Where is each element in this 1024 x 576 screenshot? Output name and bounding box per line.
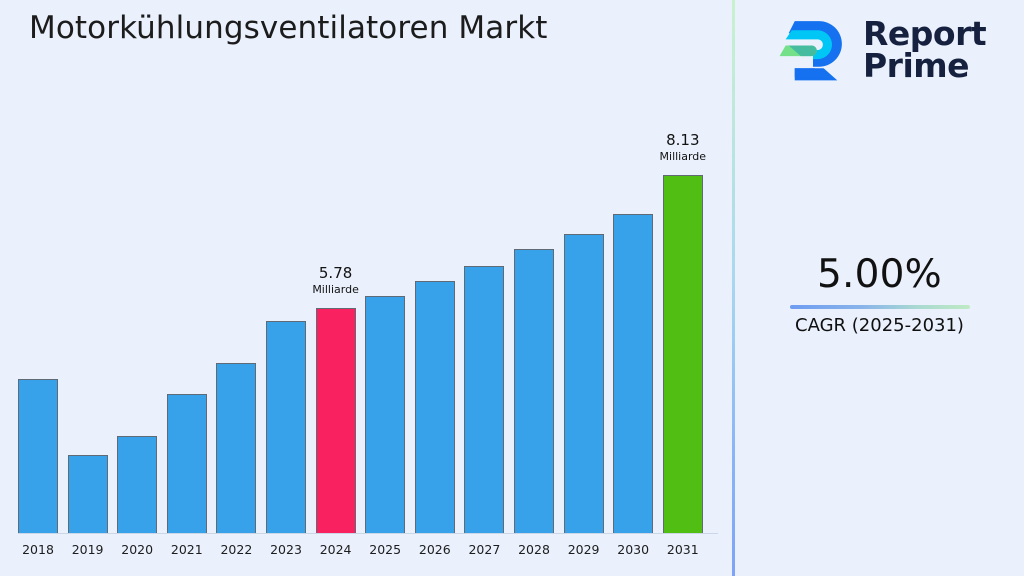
cagr-label: CAGR (2025-2031) <box>735 315 1024 336</box>
chart-infographic: Motorkühlungsventilatoren Markt 20182019… <box>0 0 1024 576</box>
x-axis-line <box>18 533 718 534</box>
bar-2018 <box>18 379 58 533</box>
bar-2031 <box>663 175 703 533</box>
bar-2025 <box>365 296 405 533</box>
bar-2019 <box>68 455 108 533</box>
bar-2022 <box>216 363 256 533</box>
bar-value-number-2031: 8.13 <box>638 133 728 149</box>
report-prime-r-logo-icon <box>775 12 851 88</box>
bar-value-unit-2031: Milliarde <box>638 151 728 163</box>
logo-line-2: Prime <box>863 50 986 82</box>
bar-2028 <box>514 249 554 533</box>
bar-2021 <box>167 394 207 533</box>
x-tick-2031: 2031 <box>653 542 713 557</box>
cagr-value: 5.00% <box>735 252 1024 297</box>
bar-2029 <box>564 234 604 533</box>
chart-panel: Motorkühlungsventilatoren Markt 20182019… <box>0 0 733 576</box>
bar-value-label-2024: 5.78Milliarde <box>291 266 381 295</box>
bar-2023 <box>266 321 306 533</box>
bar-2027 <box>464 266 504 533</box>
cagr-divider-rule <box>790 305 970 309</box>
bar-2020 <box>117 436 157 533</box>
bar-2026 <box>415 281 455 533</box>
bar-value-number-2024: 5.78 <box>291 266 381 282</box>
bar-chart-plot: 2018201920202021202220235.78Milliarde202… <box>0 0 733 576</box>
logo[interactable]: Report Prime <box>775 12 986 88</box>
logo-wordmark: Report Prime <box>863 18 986 83</box>
cagr-block: 5.00% CAGR (2025-2031) <box>735 252 1024 336</box>
brand-panel: Report Prime 5.00% CAGR (2025-2031) <box>735 0 1024 576</box>
bar-2030 <box>613 214 653 533</box>
bar-value-unit-2024: Milliarde <box>291 284 381 296</box>
bar-value-label-2031: 8.13Milliarde <box>638 133 728 162</box>
bar-2024 <box>316 308 356 533</box>
